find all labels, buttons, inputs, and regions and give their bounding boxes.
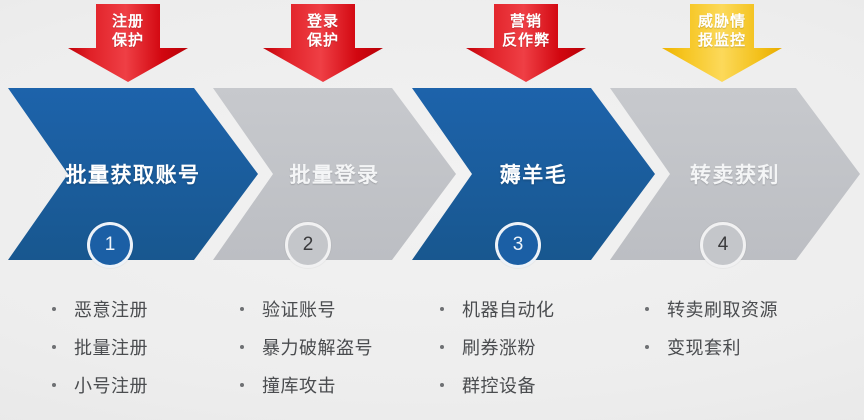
infographic-canvas: 注册 保护 登录 保护 (0, 0, 864, 420)
detail-column-1: 恶意注册 批量注册 小号注册 (52, 296, 252, 410)
bullet-dot-icon (645, 345, 649, 349)
list-item: 转卖刷取资源 (645, 296, 845, 334)
down-arrow-icon (466, 4, 586, 82)
bullet-dot-icon (52, 307, 56, 311)
bullet-dot-icon (240, 345, 244, 349)
detail-column-3: 机器自动化 刷券涨粉 群控设备 (440, 296, 640, 410)
callout-arrow-register-protection: 注册 保护 (68, 4, 188, 82)
list-item-label: 变现套利 (667, 334, 741, 360)
list-item-label: 批量注册 (74, 334, 148, 360)
bullet-dot-icon (52, 383, 56, 387)
detail-column-2: 验证账号 暴力破解盗号 撞库攻击 (240, 296, 440, 410)
bullet-dot-icon (240, 307, 244, 311)
detail-columns: 恶意注册 批量注册 小号注册 验证账号 暴力破解盗号 撞库攻击 (0, 296, 864, 420)
callout-arrow-marketing-antifraud: 营销 反作弊 (466, 4, 586, 82)
list-item-label: 恶意注册 (74, 296, 148, 322)
step-number: 3 (513, 234, 524, 256)
bullet-dot-icon (440, 383, 444, 387)
list-item-label: 刷券涨粉 (462, 334, 536, 360)
step-number-badge-3: 3 (495, 222, 541, 268)
list-item-label: 转卖刷取资源 (667, 296, 778, 322)
step-number: 1 (105, 234, 116, 256)
down-arrow-icon (263, 4, 383, 82)
list-item-label: 机器自动化 (462, 296, 555, 322)
step-number: 2 (303, 234, 314, 256)
list-item-label: 群控设备 (462, 372, 536, 398)
down-arrow-icon (68, 4, 188, 82)
list-item-label: 暴力破解盗号 (262, 334, 373, 360)
detail-column-4: 转卖刷取资源 变现套利 (645, 296, 845, 372)
step-number-badge-2: 2 (285, 222, 331, 268)
step-number-badge-4: 4 (700, 222, 746, 268)
callout-arrow-threat-intel-monitoring: 威胁情 报监控 (662, 4, 782, 82)
list-item: 批量注册 (52, 334, 252, 372)
list-item-label: 撞库攻击 (262, 372, 336, 398)
list-item-label: 验证账号 (262, 296, 336, 322)
list-item: 撞库攻击 (240, 372, 440, 410)
down-arrow-icon (662, 4, 782, 82)
bullet-dot-icon (645, 307, 649, 311)
bullet-dot-icon (440, 307, 444, 311)
list-item: 暴力破解盗号 (240, 334, 440, 372)
list-item: 群控设备 (440, 372, 640, 410)
list-item: 变现套利 (645, 334, 845, 372)
callout-arrow-login-protection: 登录 保护 (263, 4, 383, 82)
list-item: 验证账号 (240, 296, 440, 334)
list-item: 恶意注册 (52, 296, 252, 334)
step-number: 4 (718, 234, 729, 256)
bullet-dot-icon (240, 383, 244, 387)
list-item-label: 小号注册 (74, 372, 148, 398)
step-number-badge-1: 1 (87, 222, 133, 268)
bullet-dot-icon (52, 345, 56, 349)
bullet-dot-icon (440, 345, 444, 349)
list-item: 刷券涨粉 (440, 334, 640, 372)
list-item: 小号注册 (52, 372, 252, 410)
list-item: 机器自动化 (440, 296, 640, 334)
